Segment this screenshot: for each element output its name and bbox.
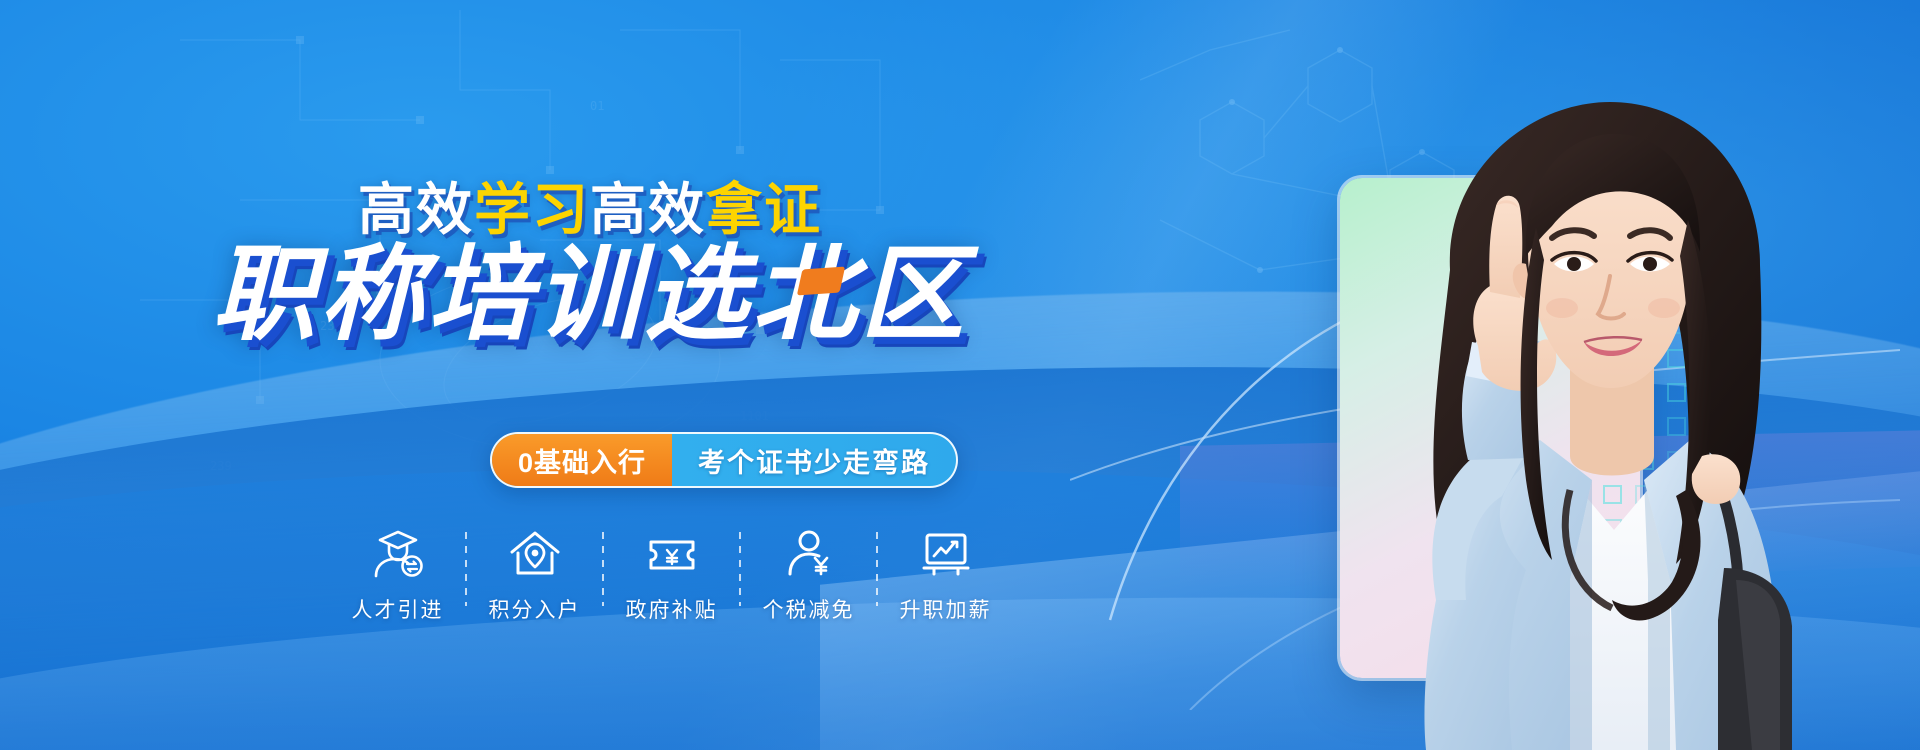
tagline-badge[interactable]: 0基础入行 考个证书少走弯路 bbox=[490, 432, 958, 488]
ticket-yuan-icon bbox=[644, 528, 700, 580]
badge-left-label: 0基础入行 bbox=[492, 434, 672, 486]
instructor-photo bbox=[1240, 60, 1900, 750]
feature-list: 人才引进 积分入户 政府补贴 bbox=[330, 528, 1013, 624]
kicker-segment-3: 高效 bbox=[590, 178, 706, 241]
feature-label: 升职加薪 bbox=[900, 594, 992, 624]
kicker-segment-2: 学习 bbox=[474, 178, 590, 241]
feature-item-points-residency[interactable]: 积分入户 bbox=[467, 528, 602, 624]
kicker-segment-1: 高效 bbox=[358, 178, 474, 241]
feature-label: 政府补贴 bbox=[626, 594, 718, 624]
kicker-line: 高效学习高效拿证 bbox=[0, 182, 1180, 238]
headline: 职称培训选北区 bbox=[0, 240, 1180, 350]
chart-board-icon bbox=[918, 528, 974, 580]
feature-item-promotion-raise[interactable]: 升职加薪 bbox=[878, 528, 1013, 624]
feature-item-government-subsidy[interactable]: 政府补贴 bbox=[604, 528, 739, 624]
feature-label: 人才引进 bbox=[352, 594, 444, 624]
badge-right-label: 考个证书少走弯路 bbox=[672, 434, 956, 486]
feature-label: 个税减免 bbox=[763, 594, 855, 624]
graduate-person-icon bbox=[370, 528, 426, 580]
kicker-segment-4: 拿证 bbox=[706, 178, 822, 241]
copy-block: 高效学习高效拿证 职称培训选北区 0基础入行 考个证书少走弯路 人才引进 bbox=[0, 0, 1180, 750]
hero-photo-composition bbox=[1240, 60, 1900, 750]
feature-item-talent-intro[interactable]: 人才引进 bbox=[330, 528, 465, 624]
promo-banner: 239011101 239 bbox=[0, 0, 1920, 750]
feature-item-tax-reduction[interactable]: 个税减免 bbox=[741, 528, 876, 624]
feature-label: 积分入户 bbox=[489, 594, 581, 624]
orange-accent-mark-icon bbox=[797, 267, 845, 296]
person-yuan-icon bbox=[781, 528, 837, 580]
house-pin-icon bbox=[507, 528, 563, 580]
